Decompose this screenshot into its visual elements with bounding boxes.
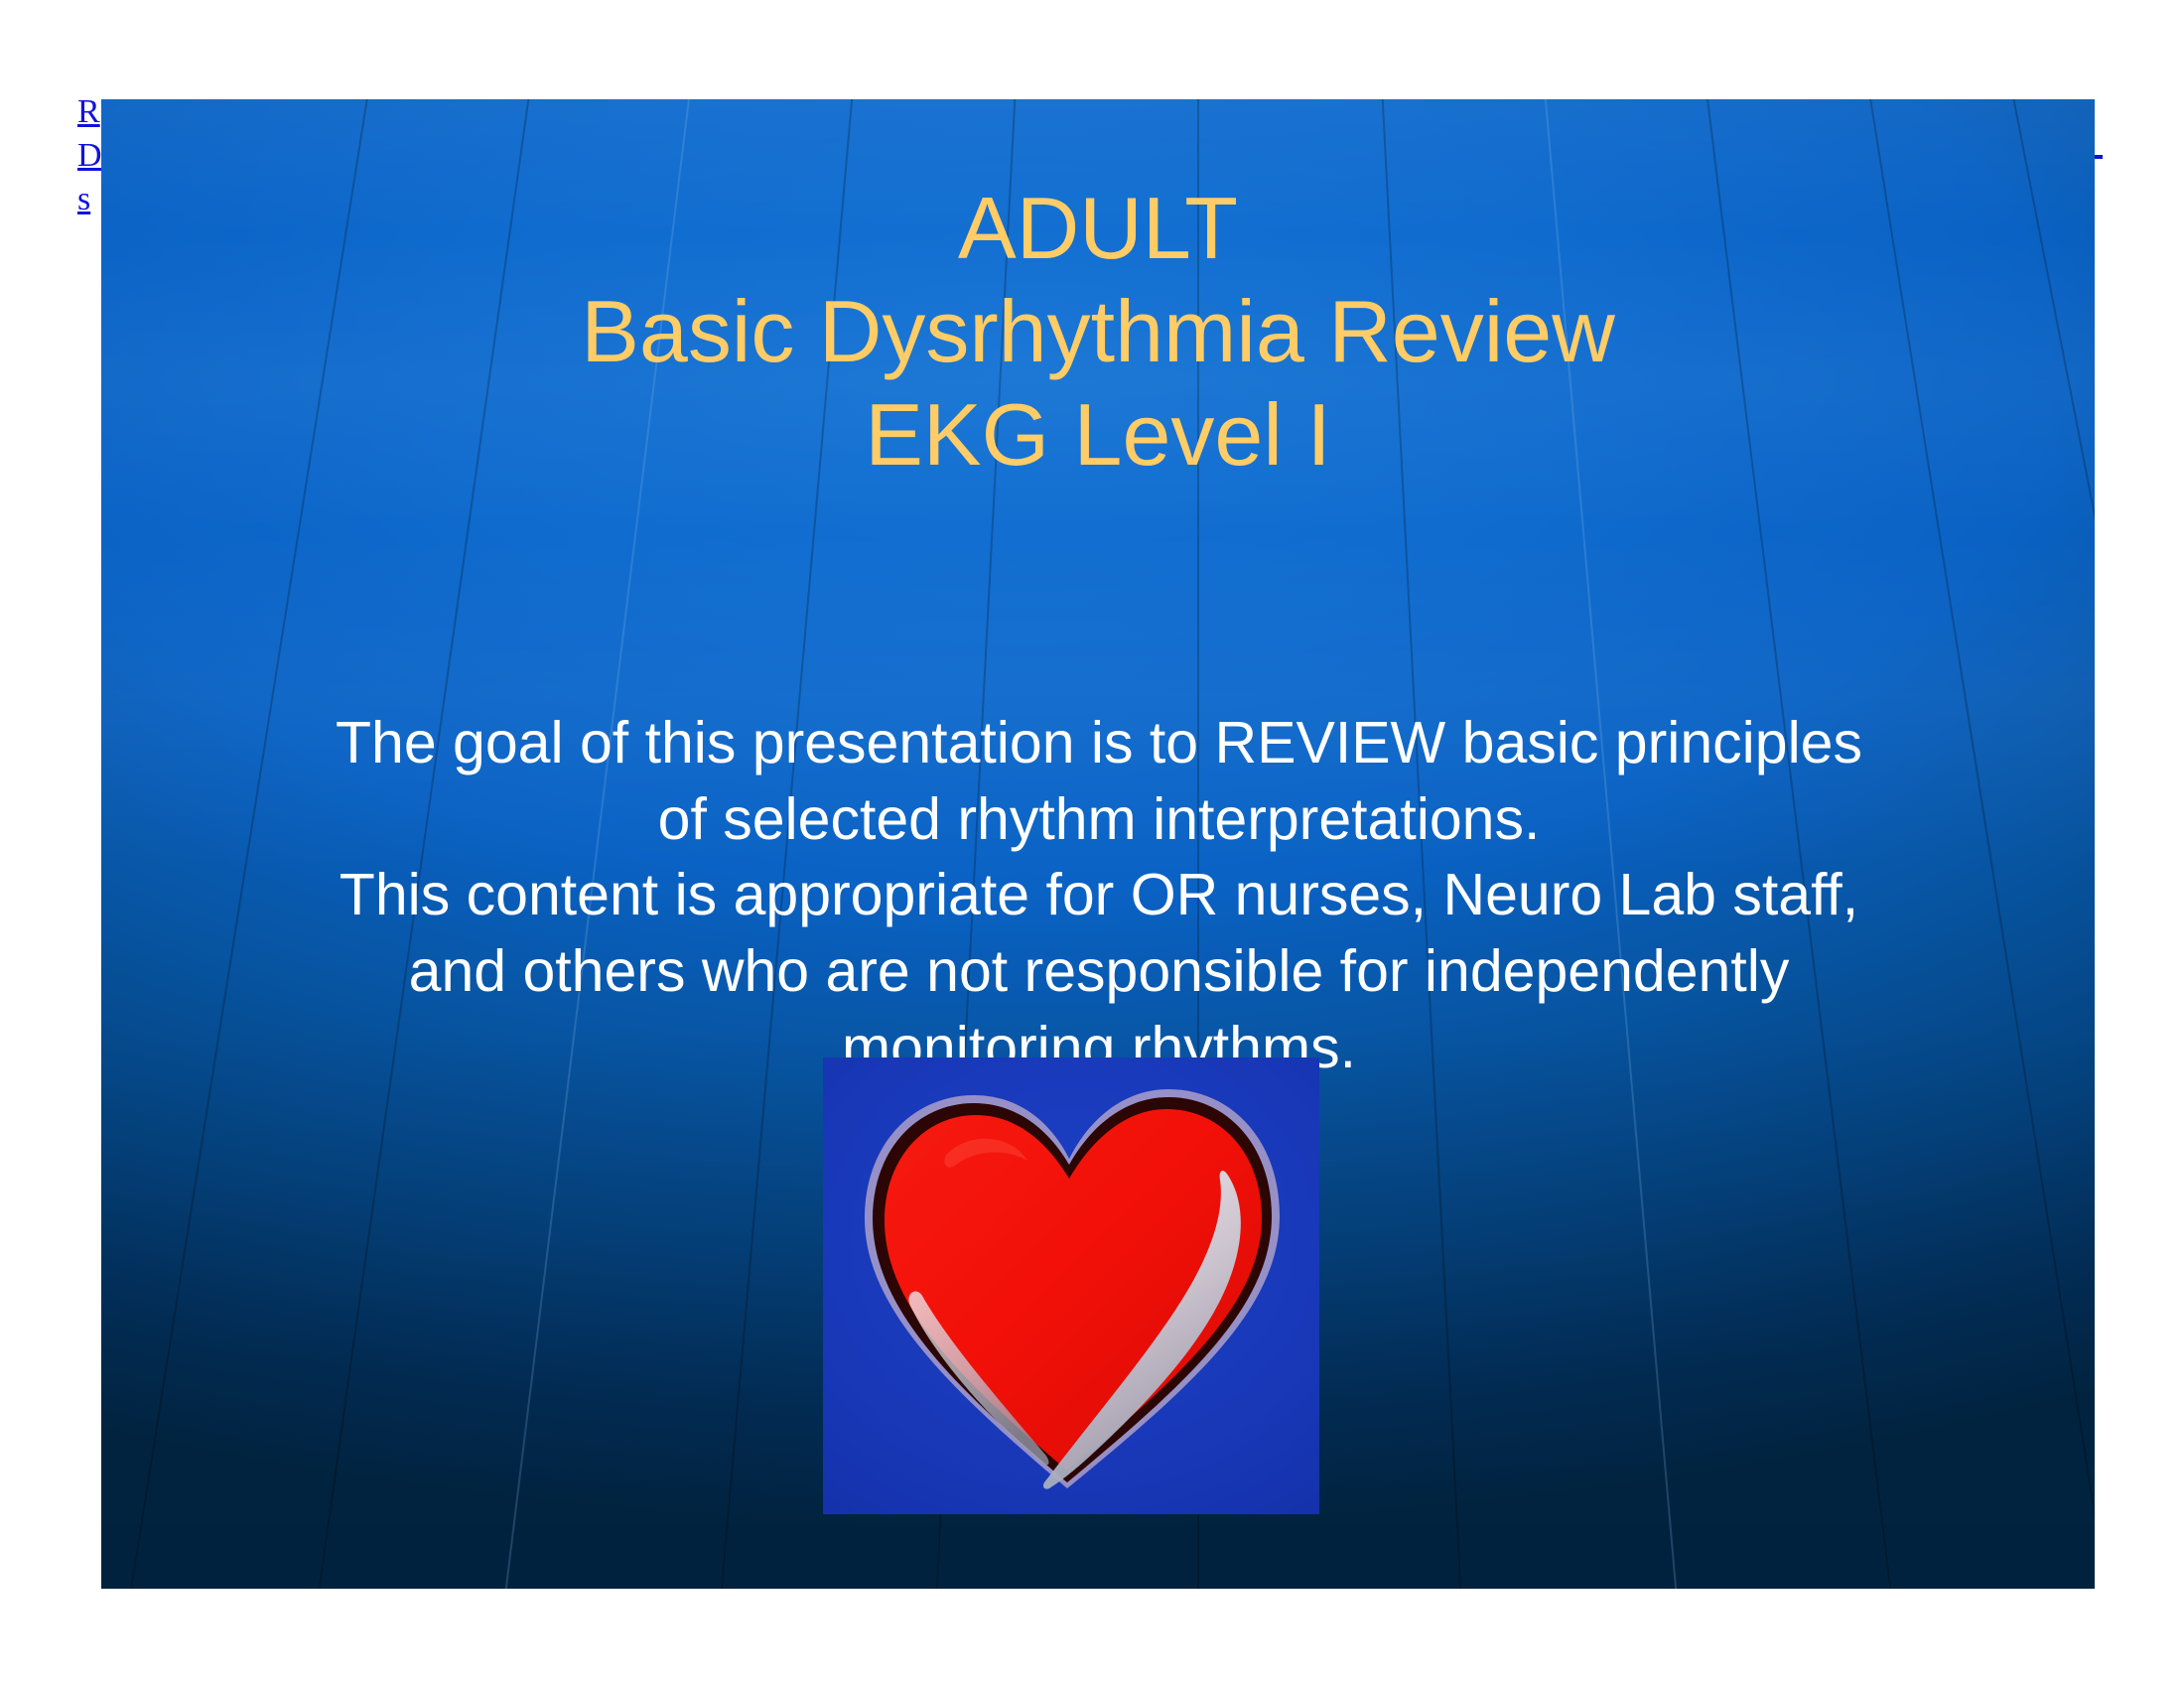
body-line-1: The goal of this presentation is to REVI… <box>161 705 2037 781</box>
body-line-4: and others who are not responsible for i… <box>161 933 2037 1010</box>
heart-icon <box>831 1061 1311 1510</box>
slide-title: ADULT Basic Dysrhythmia Review EKG Level… <box>101 177 2095 486</box>
heart-image-panel <box>823 1057 1319 1514</box>
document-page: R D s ADULT Basic Dysrhythmia Review EKG… <box>0 0 2184 1688</box>
title-line-1: ADULT <box>101 177 2095 280</box>
body-line-2: of selected rhythm interpretations. <box>161 781 2037 858</box>
body-line-3: This content is appropriate for OR nurse… <box>161 857 2037 933</box>
slide-body-text: The goal of this presentation is to REVI… <box>161 705 2037 1085</box>
presentation-slide: ADULT Basic Dysrhythmia Review EKG Level… <box>101 99 2095 1589</box>
title-line-3: EKG Level I <box>101 383 2095 487</box>
title-line-2: Basic Dysrhythmia Review <box>101 280 2095 383</box>
